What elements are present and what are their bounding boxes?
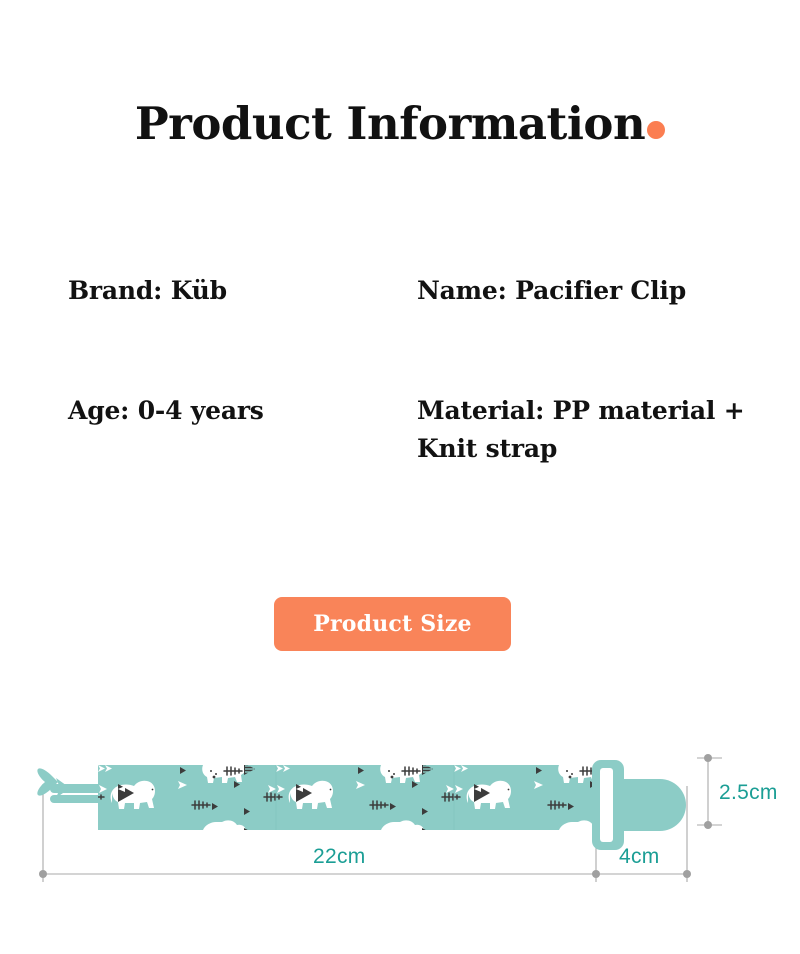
spec-age: Age: 0-4 years (68, 392, 417, 430)
dimension-label-clip-height: 2.5cm (719, 781, 778, 805)
product-size-badge: Product Size (274, 597, 511, 651)
dimension-label-strap-length: 22cm (313, 845, 366, 869)
spec-row: Brand: Küb Name: Pacifier Clip (68, 272, 768, 310)
strap-body (98, 765, 596, 830)
spec-brand: Brand: Küb (68, 272, 417, 310)
strap-tie-loop (37, 768, 102, 803)
page-title: Product Information (0, 94, 800, 154)
spec-material: Material: PP material + Knit strap (417, 392, 768, 468)
page-title-text: Product Information (135, 97, 645, 150)
pacifier-clip-head (592, 760, 686, 850)
product-spec-grid: Brand: Küb Name: Pacifier Clip Age: 0-4 … (68, 272, 768, 468)
spec-row: Age: 0-4 years Material: PP material + K… (68, 392, 768, 468)
spec-name: Name: Pacifier Clip (417, 272, 768, 310)
dimension-label-clip-length: 4cm (619, 845, 660, 869)
product-size-diagram (0, 690, 800, 920)
orange-dot-icon (647, 121, 665, 139)
